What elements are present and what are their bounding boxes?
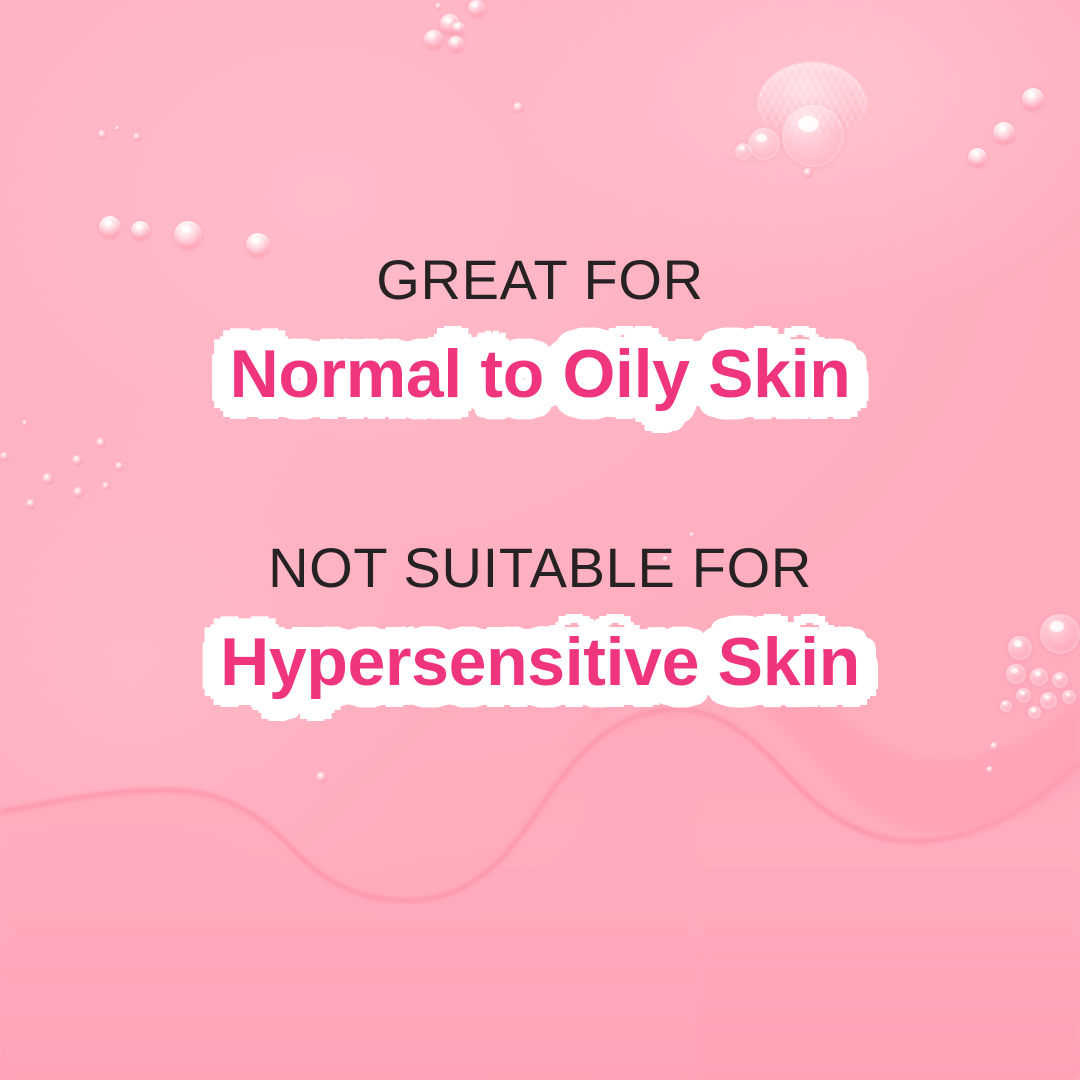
promo-graphic: GREAT FOR Normal to Oily Skin NOT SUITAB…: [0, 0, 1080, 1080]
highlight-normal-to-oily-skin: Normal to Oily Skin: [212, 328, 869, 425]
highlight-hypersensitive-skin: Hypersensitive Skin: [202, 616, 878, 713]
sticker-row-hypersensitive: Hypersensitive Skin: [0, 616, 1080, 713]
text-block-great-for: GREAT FOR Normal to Oily Skin: [0, 252, 1080, 425]
kicker-great-for: GREAT FOR: [0, 252, 1080, 308]
text-block-not-suitable: NOT SUITABLE FOR Hypersensitive Skin: [0, 540, 1080, 713]
sticker-row-normal-oily: Normal to Oily Skin: [0, 328, 1080, 425]
kicker-not-suitable-for: NOT SUITABLE FOR: [0, 540, 1080, 596]
